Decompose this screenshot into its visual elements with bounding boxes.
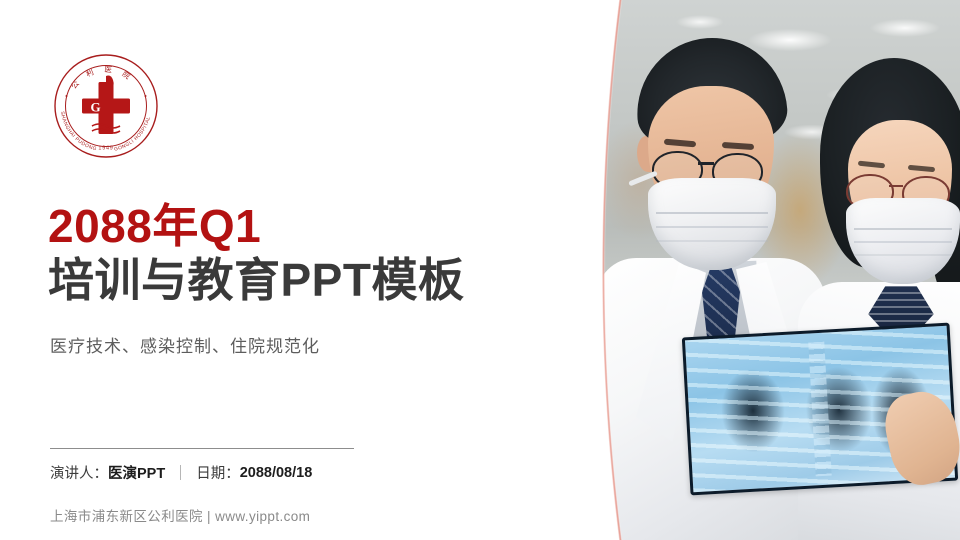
svg-text:G: G xyxy=(91,100,101,115)
subtitle-text: 医疗技术、感染控制、住院规范化 xyxy=(50,332,320,357)
date-label: 日期： xyxy=(196,462,240,483)
background-person-head xyxy=(473,39,612,186)
svg-text:GONGLI HOSPITAL: GONGLI HOSPITAL xyxy=(114,116,153,153)
hospital-logo: G 公 利 医 院 SHANGHAI PUDONG GONGLI HOSPITA… xyxy=(52,52,160,160)
background-person-body xyxy=(487,145,602,355)
male-doctor-face-mask xyxy=(648,178,776,270)
svg-text:SHANGHAI PUDONG: SHANGHAI PUDONG xyxy=(59,111,98,152)
title-text-column: G 公 利 医 院 SHANGHAI PUDONG GONGLI HOSPITA… xyxy=(46,0,476,540)
presentation-title-slide: G 公 利 医 院 SHANGHAI PUDONG GONGLI HOSPITA… xyxy=(0,0,960,540)
hospital-emblem-icon: G 公 利 医 院 SHANGHAI PUDONG GONGLI HOSPITA… xyxy=(52,52,160,160)
headline-block: 2088年Q1 培训与教育PPT模板 xyxy=(48,202,478,305)
meta-separator xyxy=(180,465,181,480)
speaker-value: 医演PPT xyxy=(108,462,165,483)
meta-row: 演讲人： 医演PPT 日期： 2088/08/18 xyxy=(50,462,312,483)
svg-text:1949: 1949 xyxy=(98,146,113,152)
speaker-label: 演讲人： xyxy=(50,462,108,483)
date-value: 2088/08/18 xyxy=(240,465,313,481)
organization-footer: 上海市浦东新区公利医院 | www.yippt.com xyxy=(50,505,310,525)
headline-line-2: 培训与教育PPT模板 xyxy=(48,255,478,306)
headline-line-1: 2088年Q1 xyxy=(48,202,478,251)
meta-divider xyxy=(50,448,354,449)
